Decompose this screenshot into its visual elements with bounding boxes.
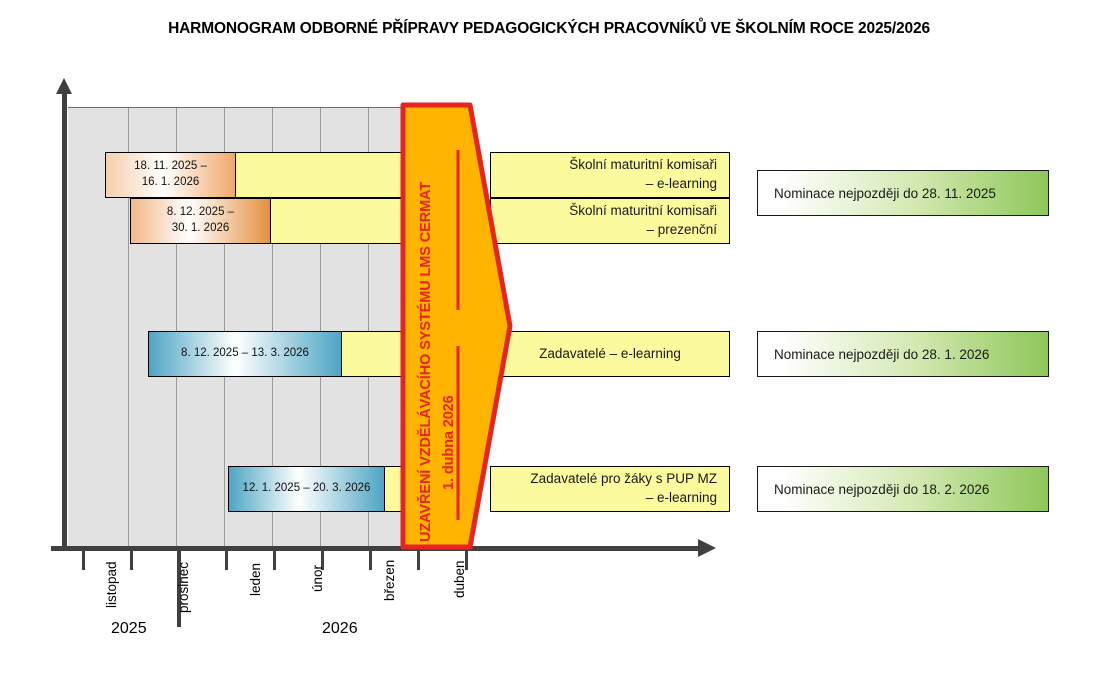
period-bar: 8. 12. 2025 – 13. 3. 2026	[148, 331, 342, 377]
period-bar: 18. 11. 2025 – 16. 1. 2026	[105, 152, 236, 198]
month-label-brezen: březen	[382, 560, 397, 601]
closure-banner-title: UZAVŘENÍ VZDĚLÁVACÍHO SYSTÉMU LMS CERMAT	[418, 182, 434, 542]
period-bar: 8. 12. 2025 – 30. 1. 2026	[130, 198, 271, 244]
task-label: Zadavatelé – e-learning	[490, 331, 730, 377]
year-label-2025: 2025	[111, 620, 147, 638]
lms-closure-banner: UZAVŘENÍ VZDĚLÁVACÍHO SYSTÉMU LMS CERMAT…	[400, 102, 518, 550]
month-label-duben: duben	[452, 560, 467, 598]
closure-banner-date: 1. dubna 2026	[441, 395, 457, 490]
nomination-box: Nominace nejpozději do 28. 1. 2026	[757, 331, 1049, 377]
axis-tick	[130, 551, 133, 570]
gantt-chart: HARMONOGRAM ODBORNÉ PŘÍPRAVY PEDAGOGICKÝ…	[0, 0, 1098, 673]
page-title: HARMONOGRAM ODBORNÉ PŘÍPRAVY PEDAGOGICKÝ…	[0, 20, 1098, 38]
period-bar: 12. 1. 2025 – 20. 3. 2026	[228, 466, 385, 512]
x-axis-arrow-icon	[698, 539, 716, 557]
task-label: Zadavatelé pro žáky s PUP MZ – e-learnin…	[490, 466, 730, 512]
nomination-text: Nominace nejpozději do 28. 1. 2026	[774, 347, 989, 362]
nomination-text: Nominace nejpozději do 18. 2. 2026	[774, 482, 989, 497]
month-label-prosinec: prosinec	[176, 562, 191, 613]
period-bar-continuation	[270, 198, 410, 244]
month-label-leden: leden	[248, 563, 263, 596]
x-axis	[51, 546, 701, 551]
axis-tick	[82, 551, 85, 570]
axis-tick	[369, 551, 372, 570]
axis-tick	[273, 551, 276, 570]
nomination-box: Nominace nejpozději do 18. 2. 2026	[757, 466, 1049, 512]
task-label: Školní maturitní komisaři – e-learning	[490, 152, 730, 198]
y-axis-arrow-icon	[56, 78, 72, 94]
year-label-2026: 2026	[322, 620, 358, 638]
axis-tick	[225, 551, 228, 570]
nomination-text: Nominace nejpozději do 28. 11. 2025	[774, 186, 996, 201]
month-label-unor: únor	[310, 565, 325, 592]
task-label: Školní maturitní komisaři – prezenční	[490, 198, 730, 244]
nomination-box: Nominace nejpozději do 28. 11. 2025	[757, 170, 1049, 216]
period-bar-continuation	[235, 152, 410, 198]
axis-tick	[417, 551, 420, 570]
month-label-listopad: listopad	[104, 561, 119, 608]
